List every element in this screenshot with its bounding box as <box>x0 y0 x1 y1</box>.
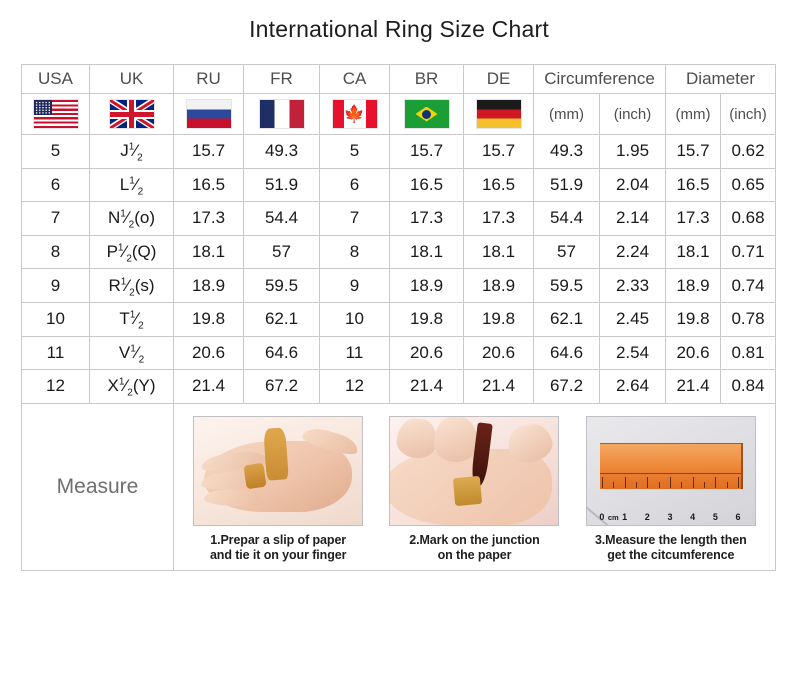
circumference-mm-cell: 62.1 <box>534 302 600 336</box>
ruler-tick-major <box>625 477 626 488</box>
measure-row: Measure <box>22 403 776 570</box>
br-size-cell: 18.9 <box>390 269 464 303</box>
de-size-cell: 15.7 <box>464 135 534 169</box>
uk-size-cell: T1⁄2 <box>90 302 174 336</box>
flag-russia-icon <box>187 100 231 128</box>
column-header-fr: FR <box>244 65 320 94</box>
uk-size-cell: N1⁄2(o) <box>90 202 174 236</box>
uk-size-cell: V1⁄2 <box>90 336 174 370</box>
usa-size-cell: 8 <box>22 235 90 269</box>
ruler-tick-minor <box>636 482 637 488</box>
marking-junction-photo <box>389 416 559 526</box>
hand-with-paper-strip-photo <box>193 416 363 526</box>
flag-brazil-icon <box>405 100 449 128</box>
circumference-inch-cell: 2.54 <box>600 336 666 370</box>
usa-size-cell: 5 <box>22 135 90 169</box>
circumference-inch-cell: 2.45 <box>600 302 666 336</box>
fr-size-cell: 67.2 <box>244 370 320 404</box>
page-title: International Ring Size Chart <box>0 0 798 53</box>
diameter-mm-cell: 16.5 <box>666 168 721 202</box>
de-size-cell: 17.3 <box>464 202 534 236</box>
usa-size-cell: 6 <box>22 168 90 202</box>
measure-step-2: 2.Mark on the junction on the paper <box>379 416 569 564</box>
table-row: 8P1⁄2(Q)18.157818.118.1572.2418.10.71 <box>22 235 776 269</box>
br-size-cell: 18.1 <box>390 235 464 269</box>
ruler-tick-label: 5 <box>713 512 718 522</box>
table-row: 10T1⁄219.862.11019.819.862.12.4519.80.78 <box>22 302 776 336</box>
table-row: 7N1⁄2(o)17.354.4717.317.354.42.1417.30.6… <box>22 202 776 236</box>
ruler-tick-major <box>670 477 671 488</box>
column-header-circumference: Circumference <box>534 65 666 94</box>
diameter-inch-cell: 0.71 <box>721 235 776 269</box>
step-1-caption-line-2: and tie it on your finger <box>210 548 346 564</box>
column-header-ru: RU <box>174 65 244 94</box>
diameter-mm-cell: 15.7 <box>666 135 721 169</box>
uk-size-cell: X1⁄2(Y) <box>90 370 174 404</box>
circumference-mm-cell: 59.5 <box>534 269 600 303</box>
ruler-tick-major <box>715 477 716 488</box>
ruler-tick-major <box>693 477 694 488</box>
de-size-cell: 18.9 <box>464 269 534 303</box>
step-2-caption-line-2: on the paper <box>409 548 539 564</box>
column-header-uk: UK <box>90 65 174 94</box>
unit-header-diameter-inch: (inch) <box>721 94 776 135</box>
column-header-ca: CA <box>320 65 390 94</box>
table-row: 6L1⁄216.551.9616.516.551.92.0416.50.65 <box>22 168 776 202</box>
circumference-inch-cell: 2.14 <box>600 202 666 236</box>
flag-canada-icon: 🍁 <box>333 100 377 128</box>
br-size-cell: 16.5 <box>390 168 464 202</box>
de-size-cell: 16.5 <box>464 168 534 202</box>
ca-size-cell: 9 <box>320 269 390 303</box>
ruler-tick-major <box>647 477 648 488</box>
br-size-cell: 15.7 <box>390 135 464 169</box>
flag-cell-usa <box>22 94 90 135</box>
ruler-unit-label: cm <box>608 513 619 522</box>
ruler-tick-label: 3 <box>667 512 672 522</box>
diameter-mm-cell: 18.9 <box>666 269 721 303</box>
ca-size-cell: 8 <box>320 235 390 269</box>
diameter-inch-cell: 0.84 <box>721 370 776 404</box>
fr-size-cell: 57 <box>244 235 320 269</box>
ru-size-cell: 15.7 <box>174 135 244 169</box>
flag-cell-ca: 🍁 <box>320 94 390 135</box>
ru-size-cell: 16.5 <box>174 168 244 202</box>
table-row: 11V1⁄220.664.61120.620.664.62.5420.60.81 <box>22 336 776 370</box>
circumference-mm-cell: 49.3 <box>534 135 600 169</box>
ruler-tick-label: 0 <box>599 512 604 522</box>
fr-size-cell: 51.9 <box>244 168 320 202</box>
table-body: 5J1⁄215.749.3515.715.749.31.9515.70.626L… <box>22 135 776 404</box>
ca-size-cell: 6 <box>320 168 390 202</box>
measure-steps-cell: 1.Prepar a slip of paper and tie it on y… <box>174 403 776 570</box>
uk-size-cell: P1⁄2(Q) <box>90 235 174 269</box>
ruler-tick-minor <box>613 482 614 488</box>
ca-size-cell: 12 <box>320 370 390 404</box>
measure-steps: 1.Prepar a slip of paper and tie it on y… <box>174 404 775 570</box>
measure-step-3: 0123456cm 3.Measure the length then get … <box>576 416 766 564</box>
ring-size-table-wrapper: USA UK RU FR CA BR DE Circumference Diam… <box>21 64 775 571</box>
table-row: 9R1⁄2(s)18.959.5918.918.959.52.3318.90.7… <box>22 269 776 303</box>
usa-size-cell: 7 <box>22 202 90 236</box>
ca-size-cell: 7 <box>320 202 390 236</box>
step-3-caption-line-2: get the citcumference <box>595 548 747 564</box>
ca-size-cell: 5 <box>320 135 390 169</box>
step-3-caption-line-1: 3.Measure the length then <box>595 533 747 549</box>
circumference-mm-cell: 64.6 <box>534 336 600 370</box>
ruler-graphic <box>600 443 743 489</box>
usa-size-cell: 9 <box>22 269 90 303</box>
unit-header-diameter-mm: (mm) <box>666 94 721 135</box>
diameter-mm-cell: 20.6 <box>666 336 721 370</box>
flag-cell-de <box>464 94 534 135</box>
table-header-country-row: USA UK RU FR CA BR DE Circumference Diam… <box>22 65 776 94</box>
flag-cell-br <box>390 94 464 135</box>
measure-step-2-caption: 2.Mark on the junction on the paper <box>409 533 539 564</box>
column-header-br: BR <box>390 65 464 94</box>
diameter-inch-cell: 0.81 <box>721 336 776 370</box>
br-size-cell: 21.4 <box>390 370 464 404</box>
measure-step-1-caption: 1.Prepar a slip of paper and tie it on y… <box>210 533 346 564</box>
flag-uk-icon <box>110 100 154 128</box>
uk-size-cell: R1⁄2(s) <box>90 269 174 303</box>
br-size-cell: 20.6 <box>390 336 464 370</box>
table-row: 12X1⁄2(Y)21.467.21221.421.467.22.6421.40… <box>22 370 776 404</box>
ring-size-table: USA UK RU FR CA BR DE Circumference Diam… <box>21 64 776 571</box>
ca-size-cell: 11 <box>320 336 390 370</box>
diameter-inch-cell: 0.74 <box>721 269 776 303</box>
circumference-inch-cell: 2.33 <box>600 269 666 303</box>
flag-germany-icon <box>477 100 521 128</box>
column-header-de: DE <box>464 65 534 94</box>
fr-size-cell: 62.1 <box>244 302 320 336</box>
diameter-inch-cell: 0.68 <box>721 202 776 236</box>
ruler-tick-minor <box>704 482 705 488</box>
fr-size-cell: 49.3 <box>244 135 320 169</box>
usa-size-cell: 12 <box>22 370 90 404</box>
flag-cell-uk <box>90 94 174 135</box>
ruler-tick-minor <box>681 482 682 488</box>
flag-france-icon <box>260 100 304 128</box>
ruler-tick-minor <box>727 482 728 488</box>
measure-label: Measure <box>22 403 174 570</box>
usa-size-cell: 10 <box>22 302 90 336</box>
br-size-cell: 19.8 <box>390 302 464 336</box>
step-1-caption-line-1: 1.Prepar a slip of paper <box>210 533 346 549</box>
diameter-inch-cell: 0.78 <box>721 302 776 336</box>
diameter-mm-cell: 19.8 <box>666 302 721 336</box>
br-size-cell: 17.3 <box>390 202 464 236</box>
de-size-cell: 20.6 <box>464 336 534 370</box>
circumference-inch-cell: 2.64 <box>600 370 666 404</box>
circumference-inch-cell: 1.95 <box>600 135 666 169</box>
measure-step-3-caption: 3.Measure the length then get the citcum… <box>595 533 747 564</box>
diameter-mm-cell: 21.4 <box>666 370 721 404</box>
step-2-caption-line-1: 2.Mark on the junction <box>409 533 539 549</box>
diameter-mm-cell: 17.3 <box>666 202 721 236</box>
uk-size-cell: J1⁄2 <box>90 135 174 169</box>
usa-size-cell: 11 <box>22 336 90 370</box>
ru-size-cell: 18.1 <box>174 235 244 269</box>
ru-size-cell: 19.8 <box>174 302 244 336</box>
ruler-tick-label: 2 <box>645 512 650 522</box>
ru-size-cell: 17.3 <box>174 202 244 236</box>
ru-size-cell: 21.4 <box>174 370 244 404</box>
circumference-inch-cell: 2.04 <box>600 168 666 202</box>
flag-cell-fr <box>244 94 320 135</box>
table-flag-row: 🍁 (mm) (inch) (mm) (inch) <box>22 94 776 135</box>
unit-header-circumference-inch: (inch) <box>600 94 666 135</box>
table-row: 5J1⁄215.749.3515.715.749.31.9515.70.62 <box>22 135 776 169</box>
fr-size-cell: 59.5 <box>244 269 320 303</box>
flag-usa-icon <box>34 100 78 128</box>
flag-cell-ru <box>174 94 244 135</box>
diameter-mm-cell: 18.1 <box>666 235 721 269</box>
fr-size-cell: 54.4 <box>244 202 320 236</box>
ruler-measuring-photo: 0123456cm <box>586 416 756 526</box>
circumference-mm-cell: 51.9 <box>534 168 600 202</box>
ruler-tick-minor <box>659 482 660 488</box>
circumference-mm-cell: 67.2 <box>534 370 600 404</box>
diameter-inch-cell: 0.65 <box>721 168 776 202</box>
de-size-cell: 18.1 <box>464 235 534 269</box>
measure-step-1: 1.Prepar a slip of paper and tie it on y… <box>183 416 373 564</box>
column-header-usa: USA <box>22 65 90 94</box>
ruler-tick-label: 4 <box>690 512 695 522</box>
circumference-mm-cell: 57 <box>534 235 600 269</box>
ruler-tick-major <box>602 477 603 488</box>
ca-size-cell: 10 <box>320 302 390 336</box>
de-size-cell: 21.4 <box>464 370 534 404</box>
uk-size-cell: L1⁄2 <box>90 168 174 202</box>
ruler-tick-label: 6 <box>735 512 740 522</box>
circumference-mm-cell: 54.4 <box>534 202 600 236</box>
ru-size-cell: 18.9 <box>174 269 244 303</box>
circumference-inch-cell: 2.24 <box>600 235 666 269</box>
ru-size-cell: 20.6 <box>174 336 244 370</box>
de-size-cell: 19.8 <box>464 302 534 336</box>
diameter-inch-cell: 0.62 <box>721 135 776 169</box>
ruler-tick-major <box>738 477 739 488</box>
ruler-tick-label: 1 <box>622 512 627 522</box>
unit-header-circumference-mm: (mm) <box>534 94 600 135</box>
fr-size-cell: 64.6 <box>244 336 320 370</box>
column-header-diameter: Diameter <box>666 65 776 94</box>
